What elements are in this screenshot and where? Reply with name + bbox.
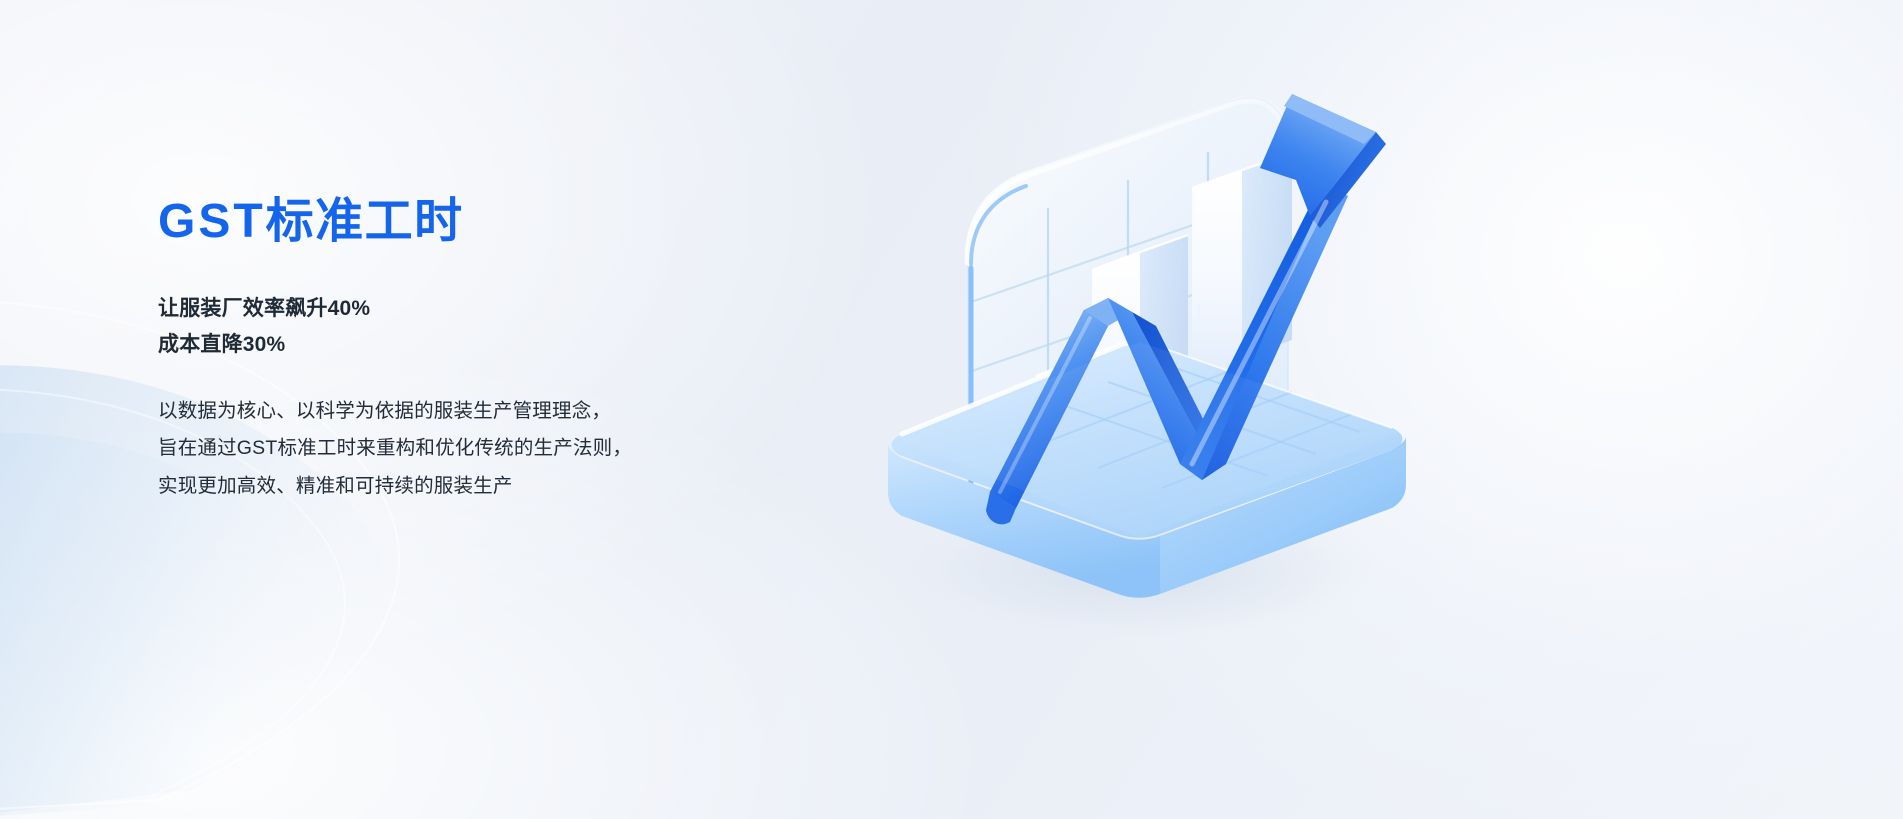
page-title-cjk: 标准工时 [266, 195, 464, 248]
hero-description: 以数据为核心、以科学为依据的服装生产管理理念， 旨在通过GST标准工时来重构和优… [158, 393, 918, 505]
growth-chart-3d-illustration [840, 40, 1460, 660]
description-line-1: 以数据为核心、以科学为依据的服装生产管理理念， [158, 393, 918, 430]
description-line-3: 实现更加高效、精准和可持续的服装生产 [158, 468, 918, 505]
hero-banner: GST标准工时 让服装厂效率飙升40% 成本直降30% 以数据为核心、以科学为依… [0, 0, 1903, 819]
page-title: GST标准工时 [158, 196, 918, 249]
hero-subheading: 让服装厂效率飙升40% 成本直降30% [158, 291, 918, 363]
wave-ribbon-3 [1200, 0, 1903, 6]
subheading-line-2: 成本直降30% [158, 327, 918, 363]
subheading-line-1: 让服装厂效率飙升40% [158, 291, 918, 327]
description-line-2: 旨在通过GST标准工时来重构和优化传统的生产法则， [158, 430, 918, 467]
page-title-latin: GST [158, 195, 266, 248]
hero-text-block: GST标准工时 让服装厂效率飙升40% 成本直降30% 以数据为核心、以科学为依… [158, 196, 918, 505]
